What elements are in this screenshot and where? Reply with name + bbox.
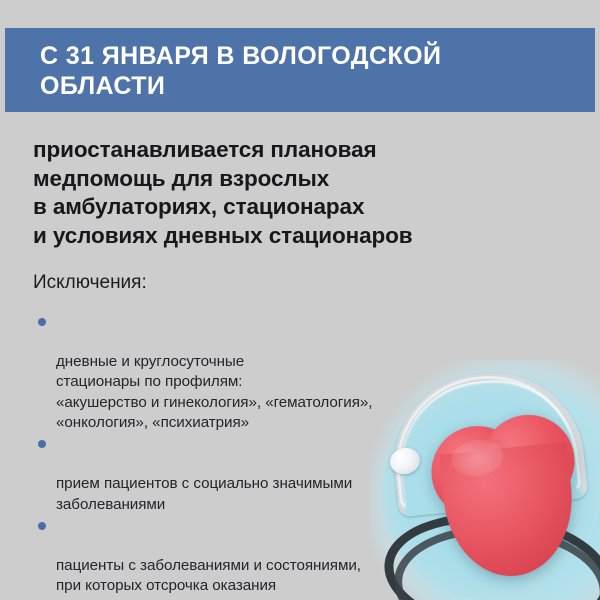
bullet-dot-icon [38,522,46,530]
list-item: дневные и круглосуточные стационары по п… [33,311,453,433]
header-banner: С 31 ЯНВАРЯ В ВОЛОГОДСКОЙ ОБЛАСТИ [5,28,595,112]
page-title: приостанавливается плановая медпомощь дл… [33,136,573,250]
exceptions-list: дневные и круглосуточные стационары по п… [33,311,453,600]
exceptions-label: Исключения: [33,271,147,295]
bullet-dot-icon [38,318,46,326]
list-item-text: прием пациентов с социально значимыми за… [56,475,352,512]
heart-body [439,442,580,583]
bullet-dot-icon [38,440,46,448]
banner-title: С 31 ЯНВАРЯ В ВОЛОГОДСКОЙ ОБЛАСТИ [40,41,571,101]
list-item-text: пациенты с заболеваниями и состояниями, … [56,557,361,600]
heart-lobe-right [476,409,580,513]
infographic-poster: С 31 ЯНВАРЯ В ВОЛОГОДСКОЙ ОБЛАСТИ приост… [0,0,600,600]
list-item: пациенты с заболеваниями и состояниями, … [33,515,453,600]
heart-highlight [449,437,506,480]
list-item: прием пациентов с социально значимыми за… [33,433,453,515]
list-item-text: дневные и круглосуточные стационары по п… [56,353,372,431]
